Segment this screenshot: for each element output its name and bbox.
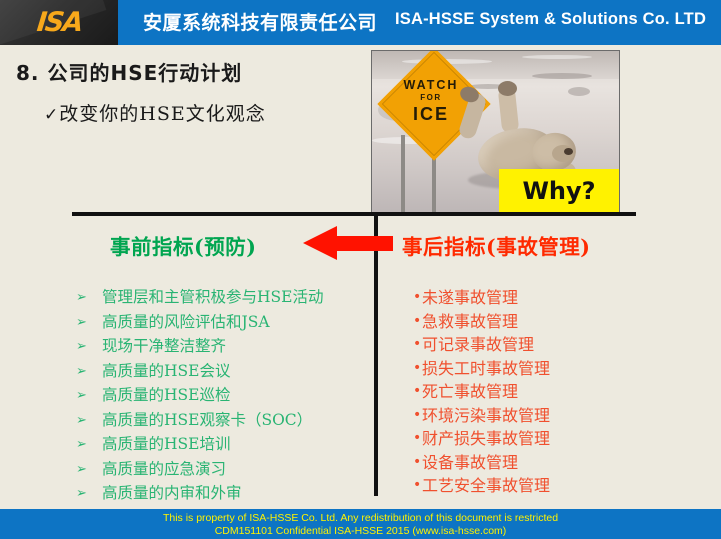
bear-nose — [564, 148, 573, 155]
list-item-label: 高质量的内审和外审 — [102, 482, 242, 505]
list-item-label: 高质量的HSE巡检 — [102, 384, 230, 407]
arrow-head — [303, 226, 337, 260]
dot-bullet-icon: • — [413, 474, 422, 498]
arrow-bullet-icon: ➢ — [76, 286, 102, 309]
list-item: •工艺安全事故管理 — [413, 474, 713, 498]
arrow-bullet-icon: ➢ — [76, 335, 102, 358]
polar-bear-ice-photo: WATCH FOR ICE Why? — [371, 50, 620, 214]
arrow-bullet-icon: ➢ — [76, 360, 102, 383]
list-item-label: 未遂事故管理 — [422, 286, 518, 310]
logo-wordmark: ISA — [35, 7, 83, 38]
list-item-label: 死亡事故管理 — [422, 380, 518, 404]
footer-line-2: CDM151101 Confidential ISA-HSSE 2015 (ww… — [0, 525, 721, 538]
lagging-indicators-list: •未遂事故管理 •急救事故管理 •可记录事故管理 •损失工时事故管理 •死亡事故… — [413, 286, 713, 498]
dot-bullet-icon: • — [413, 380, 422, 404]
list-item: ➢高质量的内审和外审 — [76, 482, 376, 505]
list-item-label: 财产损失事故管理 — [422, 427, 550, 451]
list-item: •设备事故管理 — [413, 451, 713, 475]
horizontal-divider — [72, 212, 636, 216]
arrow-shaft — [335, 236, 393, 251]
list-item-label: 损失工时事故管理 — [422, 357, 550, 381]
check-icon: ✓ — [44, 105, 59, 125]
list-item: •损失工时事故管理 — [413, 357, 713, 381]
slide-title: 8. 公司的HSE行动计划 — [16, 57, 242, 86]
list-item: ➢高质量的HSE会议 — [76, 360, 376, 383]
dot-bullet-icon: • — [413, 404, 422, 428]
list-item-label: 设备事故管理 — [422, 451, 518, 475]
dot-bullet-icon: • — [413, 427, 422, 451]
why-caption-box: Why? — [499, 169, 619, 212]
why-caption-text: Why? — [522, 177, 595, 205]
list-item-label: 环境污染事故管理 — [422, 404, 550, 428]
list-item: ➢高质量的HSE培训 — [76, 433, 376, 456]
sign-post-left — [401, 135, 405, 213]
leading-indicators-heading: 事前指标(预防) — [110, 230, 256, 260]
list-item-label: 工艺安全事故管理 — [422, 474, 550, 498]
list-item: ➢现场干净整洁整齐 — [76, 335, 376, 358]
leading-indicators-list: ➢管理层和主管积极参与HSE活动 ➢高质量的风险评估和JSA ➢现场干净整洁整齐… — [76, 286, 376, 507]
slide-header: ISA 安厦系统科技有限责任公司 ISA-HSSE System & Solut… — [0, 0, 721, 45]
isa-logo: ISA — [0, 0, 118, 45]
arrow-bullet-icon: ➢ — [76, 311, 102, 334]
ice-shadow-mark — [568, 87, 590, 96]
list-item: •财产损失事故管理 — [413, 427, 713, 451]
sign-line-watch: WATCH — [404, 79, 459, 92]
list-item: •死亡事故管理 — [413, 380, 713, 404]
arrow-bullet-icon: ➢ — [76, 482, 102, 505]
dot-bullet-icon: • — [413, 333, 422, 357]
list-item-label: 高质量的HSE观察卡（SOC） — [102, 409, 312, 432]
sign-line-ice: ICE — [413, 105, 449, 123]
list-item-label: 高质量的应急演习 — [102, 458, 226, 481]
list-item-label: 高质量的HSE培训 — [102, 433, 230, 456]
dot-bullet-icon: • — [413, 357, 422, 381]
ice-streak — [522, 55, 592, 59]
left-pointing-arrow-icon — [303, 226, 393, 260]
dot-bullet-icon: • — [413, 310, 422, 334]
company-name-chinese: 安厦系统科技有限责任公司 — [143, 8, 377, 35]
list-item-label: 管理层和主管积极参与HSE活动 — [102, 286, 323, 309]
arrow-bullet-icon: ➢ — [76, 458, 102, 481]
subtitle-text: 改变你的HSE文化观念 — [59, 103, 265, 125]
ice-shadow-mark — [532, 73, 592, 79]
arrow-bullet-icon: ➢ — [76, 433, 102, 456]
list-item: •急救事故管理 — [413, 310, 713, 334]
list-item-label: 可记录事故管理 — [422, 333, 534, 357]
list-item: ➢管理层和主管积极参与HSE活动 — [76, 286, 376, 309]
list-item-label: 高质量的HSE会议 — [102, 360, 230, 383]
list-item: •环境污染事故管理 — [413, 404, 713, 428]
bear-paw — [498, 81, 517, 96]
list-item: ➢高质量的应急演习 — [76, 458, 376, 481]
list-item: •可记录事故管理 — [413, 333, 713, 357]
slide-footer: This is property of ISA-HSSE Co. Ltd. An… — [0, 509, 721, 539]
lagging-indicators-heading: 事后指标(事故管理) — [402, 230, 590, 260]
list-item-label: 现场干净整洁整齐 — [102, 335, 226, 358]
arrow-tick — [379, 236, 383, 251]
dot-bullet-icon: • — [413, 286, 422, 310]
list-item: •未遂事故管理 — [413, 286, 713, 310]
list-item: ➢高质量的风险评估和JSA — [76, 311, 376, 334]
slide-subtitle: ✓改变你的HSE文化观念 — [44, 99, 266, 126]
arrow-bullet-icon: ➢ — [76, 384, 102, 407]
list-item-label: 急救事故管理 — [422, 310, 518, 334]
list-item-label: 高质量的风险评估和JSA — [102, 311, 270, 334]
dot-bullet-icon: • — [413, 451, 422, 475]
company-name-english: ISA-HSSE System & Solutions Co. LTD — [395, 10, 706, 29]
list-item: ➢高质量的HSE巡检 — [76, 384, 376, 407]
footer-line-1: This is property of ISA-HSSE Co. Ltd. An… — [0, 512, 721, 525]
list-item: ➢高质量的HSE观察卡（SOC） — [76, 409, 376, 432]
sign-line-for: FOR — [420, 94, 441, 102]
arrow-tick — [387, 236, 391, 251]
slide-canvas: ISA 安厦系统科技有限责任公司 ISA-HSSE System & Solut… — [0, 0, 721, 539]
arrow-bullet-icon: ➢ — [76, 409, 102, 432]
